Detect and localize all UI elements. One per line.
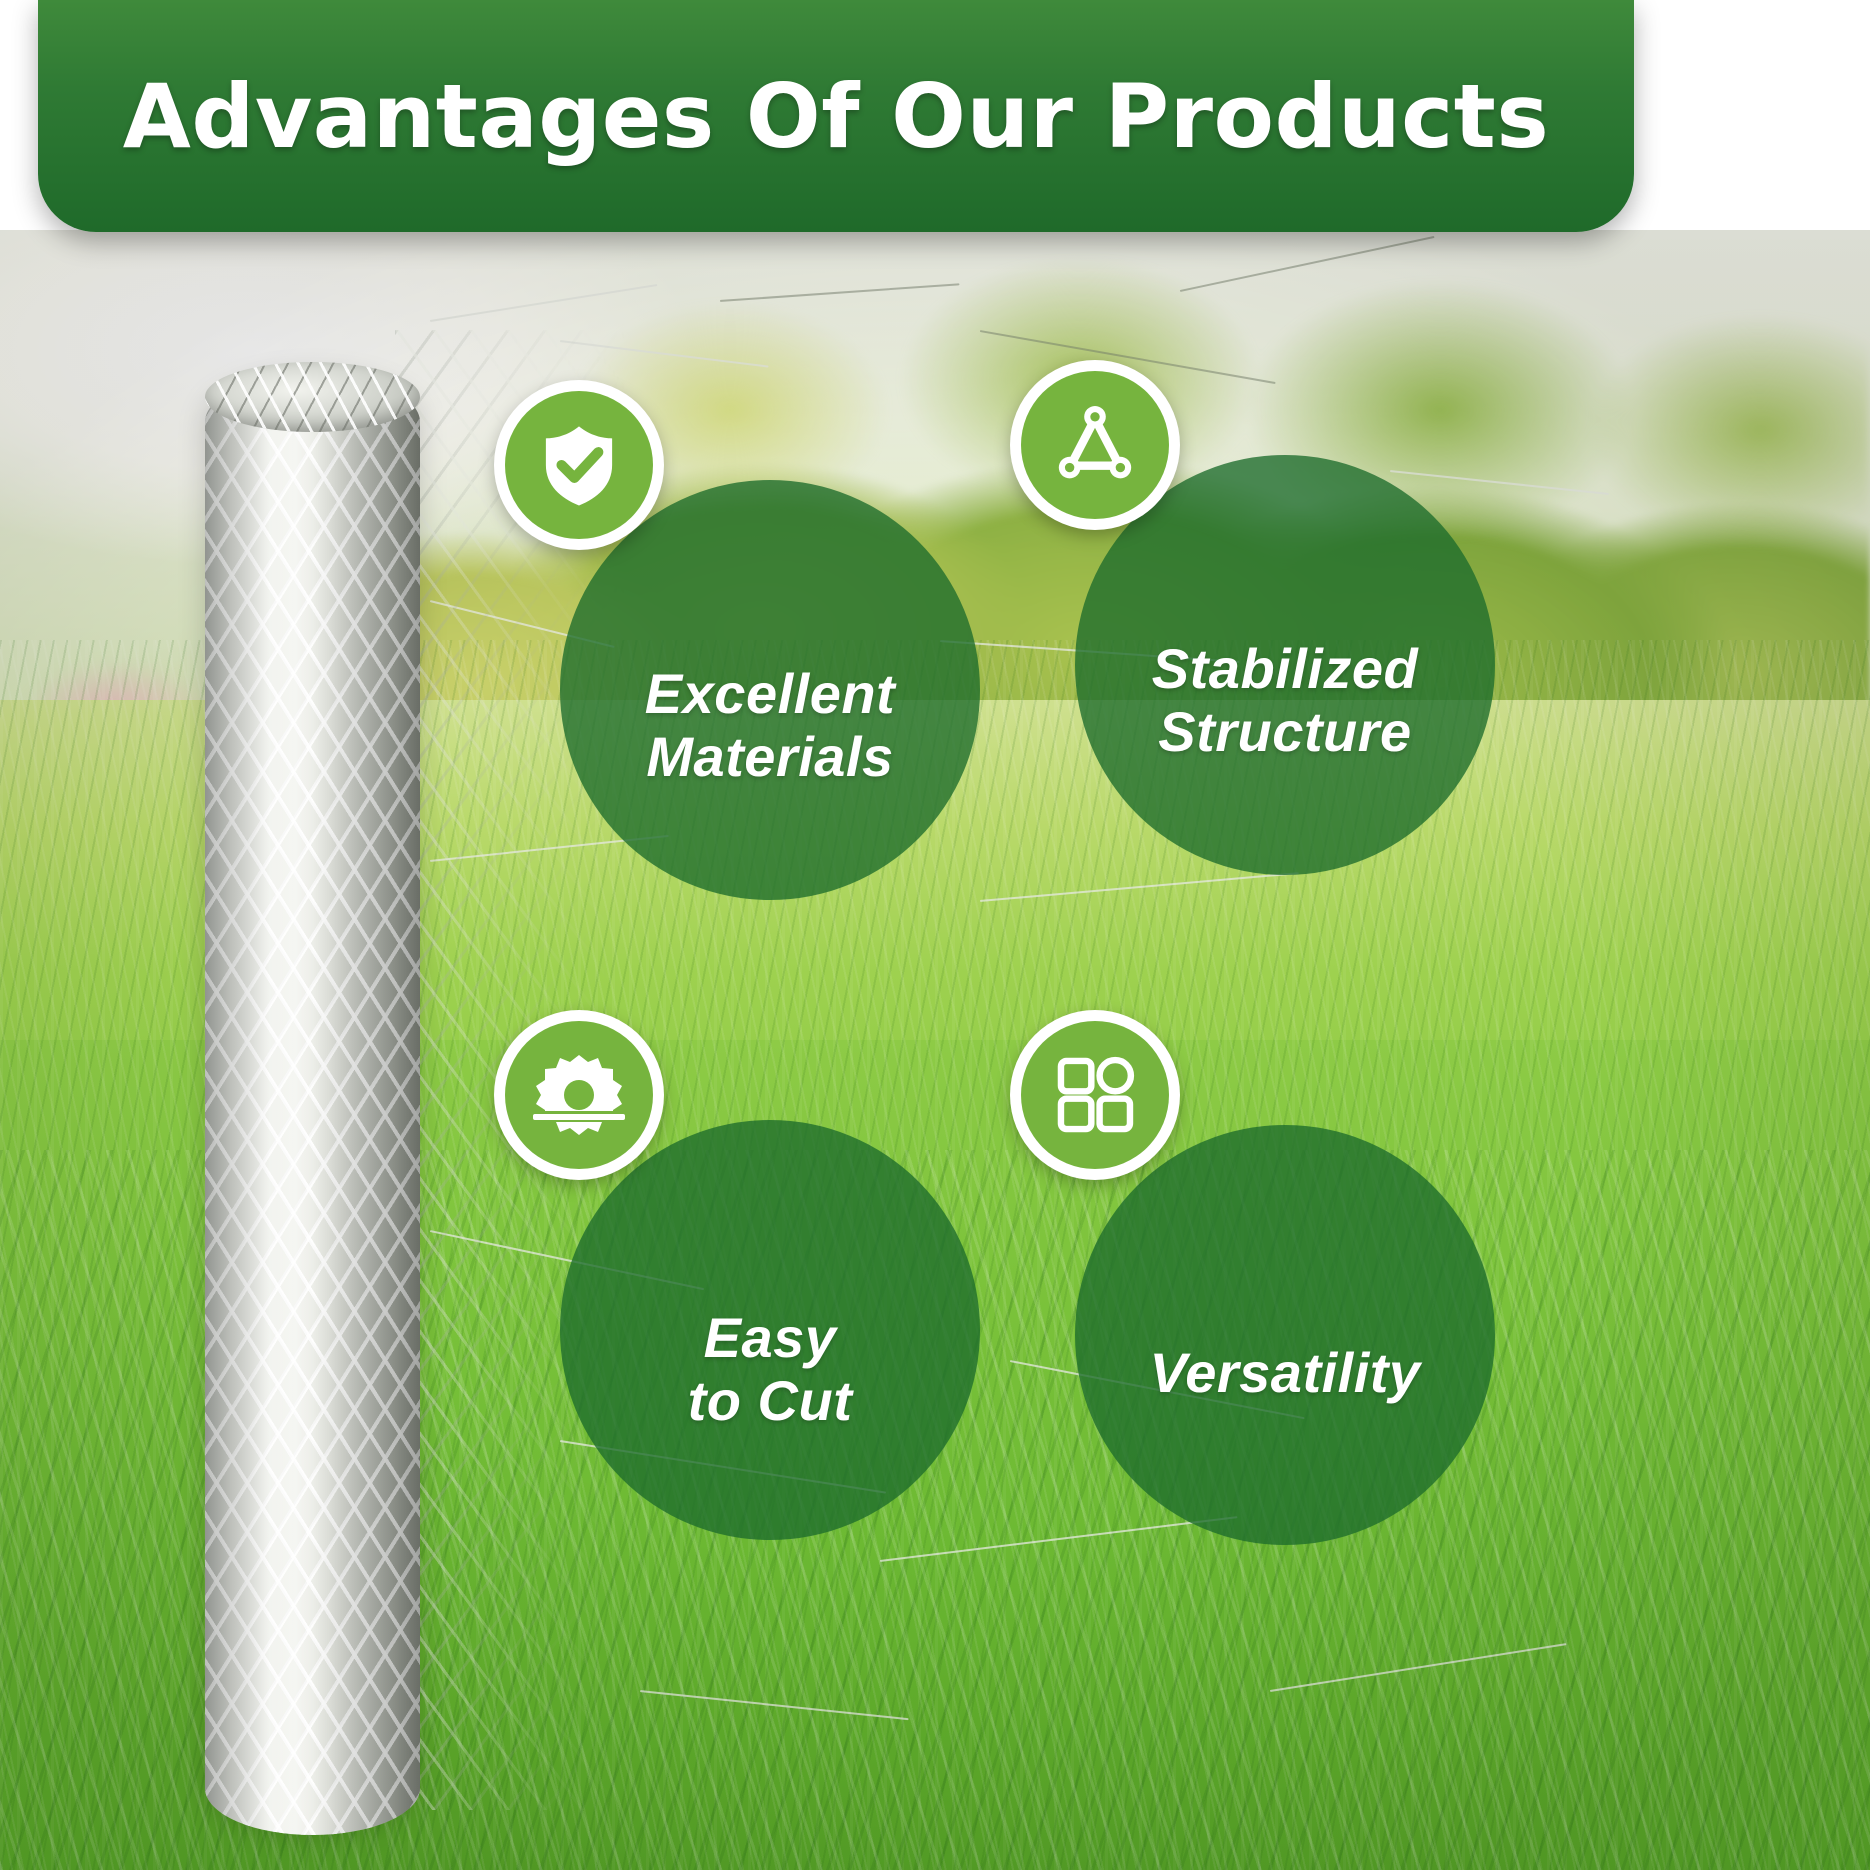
feature-label-line1: Stabilized [1152, 637, 1418, 700]
feature-card-versatility[interactable]: Versatility [1075, 1125, 1495, 1545]
header-banner: Advantages Of Our Products [38, 0, 1634, 232]
feature-label: Easy to Cut [662, 1307, 879, 1432]
wire-mesh-roll-top [205, 362, 420, 432]
feature-card-stabilized-structure[interactable]: Stabilized Structure [1075, 455, 1495, 875]
circular-saw-blade-icon [529, 1045, 629, 1145]
feature-label-line1: Versatility [1149, 1341, 1420, 1404]
roll-shading [205, 375, 420, 1835]
feature-label-line2: Materials [646, 725, 893, 788]
feature-disc: Excellent Materials [560, 480, 980, 900]
feature-badge[interactable] [1010, 1010, 1180, 1180]
feature-label-line1: Easy [704, 1306, 837, 1369]
feature-badge[interactable] [1010, 360, 1180, 530]
grid-shapes-icon [1049, 1049, 1141, 1141]
badge-background [505, 1021, 653, 1169]
feature-label: Excellent Materials [619, 663, 921, 788]
feature-disc: Versatility [1075, 1125, 1495, 1545]
feature-card-excellent-materials[interactable]: Excellent Materials [560, 480, 980, 900]
roll-top-mesh-pattern [205, 362, 420, 432]
feature-card-easy-to-cut[interactable]: Easy to Cut [560, 1120, 980, 1540]
badge-background [1021, 371, 1169, 519]
badge-background [505, 391, 653, 539]
feature-label-line2: Structure [1158, 700, 1411, 763]
advantages-poster: Advantages Of Our Products Excellent Mat… [0, 0, 1870, 1870]
feature-label: Versatility [1123, 1342, 1446, 1405]
feature-label-line1: Excellent [645, 662, 895, 725]
feature-badge[interactable] [494, 1010, 664, 1180]
feature-disc: Easy to Cut [560, 1120, 980, 1540]
feature-label: Stabilized Structure [1126, 638, 1444, 763]
wire-mesh-roll [205, 375, 420, 1835]
triangle-nodes-icon [1048, 398, 1142, 492]
page-title: Advantages Of Our Products [123, 65, 1549, 168]
feature-badge[interactable] [494, 380, 664, 550]
feature-label-line2: to Cut [688, 1369, 853, 1432]
shield-check-icon [533, 419, 625, 511]
badge-background [1021, 1021, 1169, 1169]
